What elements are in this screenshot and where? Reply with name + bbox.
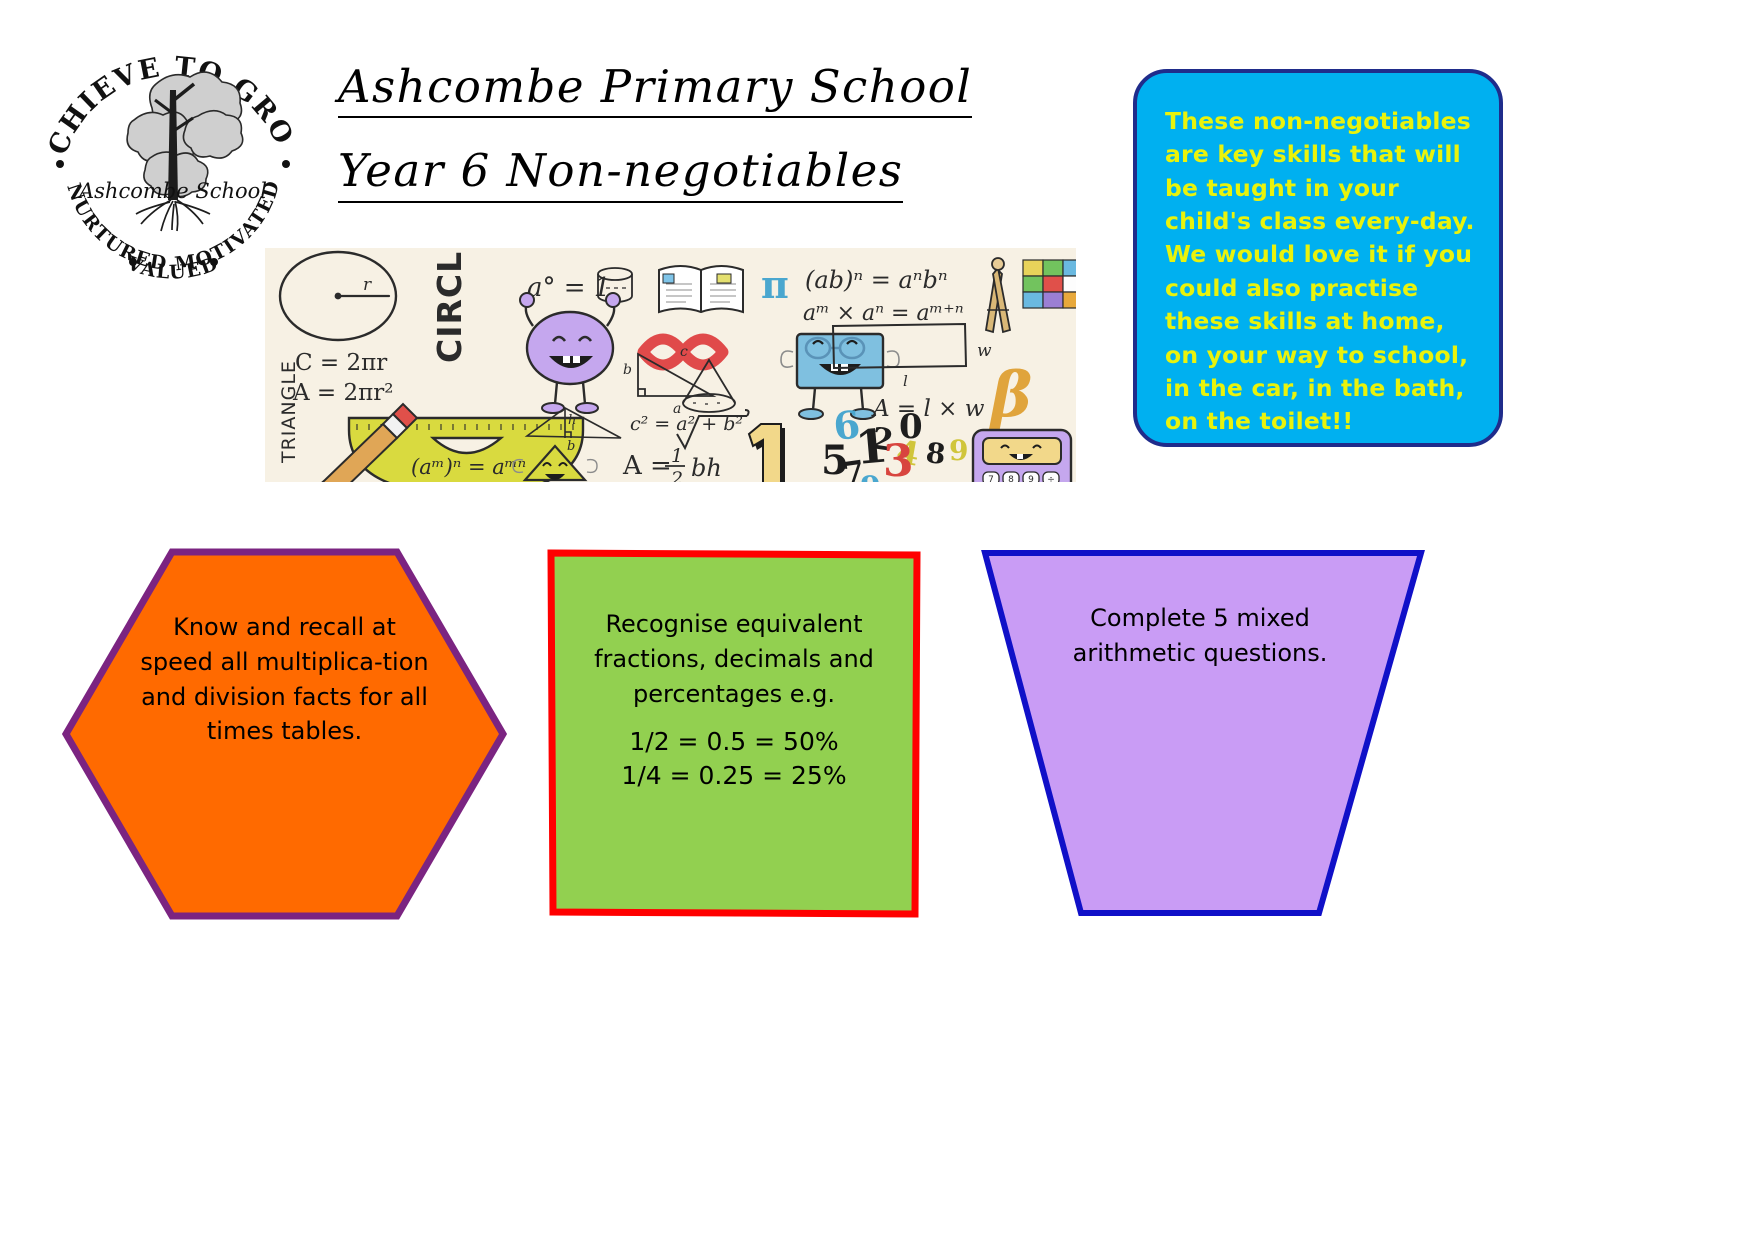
triangle-side-b: b xyxy=(623,362,632,378)
logo-dot-left xyxy=(56,160,64,168)
number-grid-doodle xyxy=(1023,260,1076,308)
title-line-school: Ashcombe Primary School xyxy=(338,62,972,118)
maths-doodles-banner: r C = 2πr A = 2πr² CIRCLE TRIANGLE a° = … xyxy=(265,248,1076,482)
rect-label-w: w xyxy=(977,341,992,361)
triangle-side-c: c xyxy=(680,344,688,360)
svg-text:1: 1 xyxy=(671,445,683,467)
book-doodle xyxy=(659,266,743,312)
formula-power-product: (ab)ⁿ = aⁿbⁿ xyxy=(805,266,948,294)
formula-rect-area: A = l × w xyxy=(871,396,985,422)
svg-text:÷: ÷ xyxy=(1047,475,1055,482)
calculator-doodle: 78 9÷ 45 6× 12 3− xyxy=(973,430,1071,482)
svg-text:2: 2 xyxy=(670,468,683,482)
rect-label-l: l xyxy=(903,372,908,390)
radius-label: r xyxy=(363,275,372,295)
square-card[interactable]: Recognise equivalent fractions, decimals… xyxy=(547,549,921,918)
svg-text:8: 8 xyxy=(1008,475,1014,482)
trapezoid-card[interactable]: Complete 5 mixed arithmetic questions. xyxy=(975,549,1425,917)
info-callout-box: These non-negotiables are key skills tha… xyxy=(1133,69,1503,447)
hexagon-card[interactable]: Know and recall at speed all multiplica-… xyxy=(62,548,507,920)
svg-text:3: 3 xyxy=(883,436,914,482)
svg-text:7: 7 xyxy=(988,475,994,482)
tri-base-label: b xyxy=(567,439,575,454)
formula-power-sum: aᵐ × aⁿ = aᵐ⁺ⁿ xyxy=(803,301,964,326)
page-title: Ashcombe Primary School Year 6 Non-negot… xyxy=(338,62,1098,203)
hexagon-outline xyxy=(66,552,503,916)
pi-symbol: π xyxy=(761,262,789,307)
svg-text:8: 8 xyxy=(924,436,947,471)
logo-dot-right xyxy=(282,160,290,168)
tri-height-label: h xyxy=(568,413,576,428)
formula-circle-area: A = 2πr² xyxy=(292,380,393,406)
circle-word-label: CIRCLE xyxy=(430,248,469,363)
logo-dot-bottom-right xyxy=(210,258,218,266)
svg-text:9: 9 xyxy=(1028,475,1034,482)
beta-symbol: β xyxy=(989,358,1032,431)
info-callout-text: These non-negotiables are key skills tha… xyxy=(1165,105,1481,439)
svg-text:A =: A = xyxy=(622,451,672,481)
trapezoid-outline xyxy=(985,553,1421,913)
logo-dot-bottom-left xyxy=(129,258,137,266)
rectangle-area-group xyxy=(837,326,972,370)
square-outline xyxy=(551,553,917,914)
logo-center-text: Ashcombe School xyxy=(77,179,267,203)
formula-circumference: C = 2πr xyxy=(295,350,387,376)
formula-power-power: (aᵐ)ⁿ = aᵐⁿ xyxy=(411,455,526,479)
svg-text:9: 9 xyxy=(949,434,968,467)
school-logo: ACHIEVE TO GROW NURTURED VALUED MOTIVATE… xyxy=(38,12,308,282)
triangle-word-label: TRIANGLE xyxy=(278,360,300,464)
title-line-year: Year 6 Non-negotiables xyxy=(338,146,903,202)
